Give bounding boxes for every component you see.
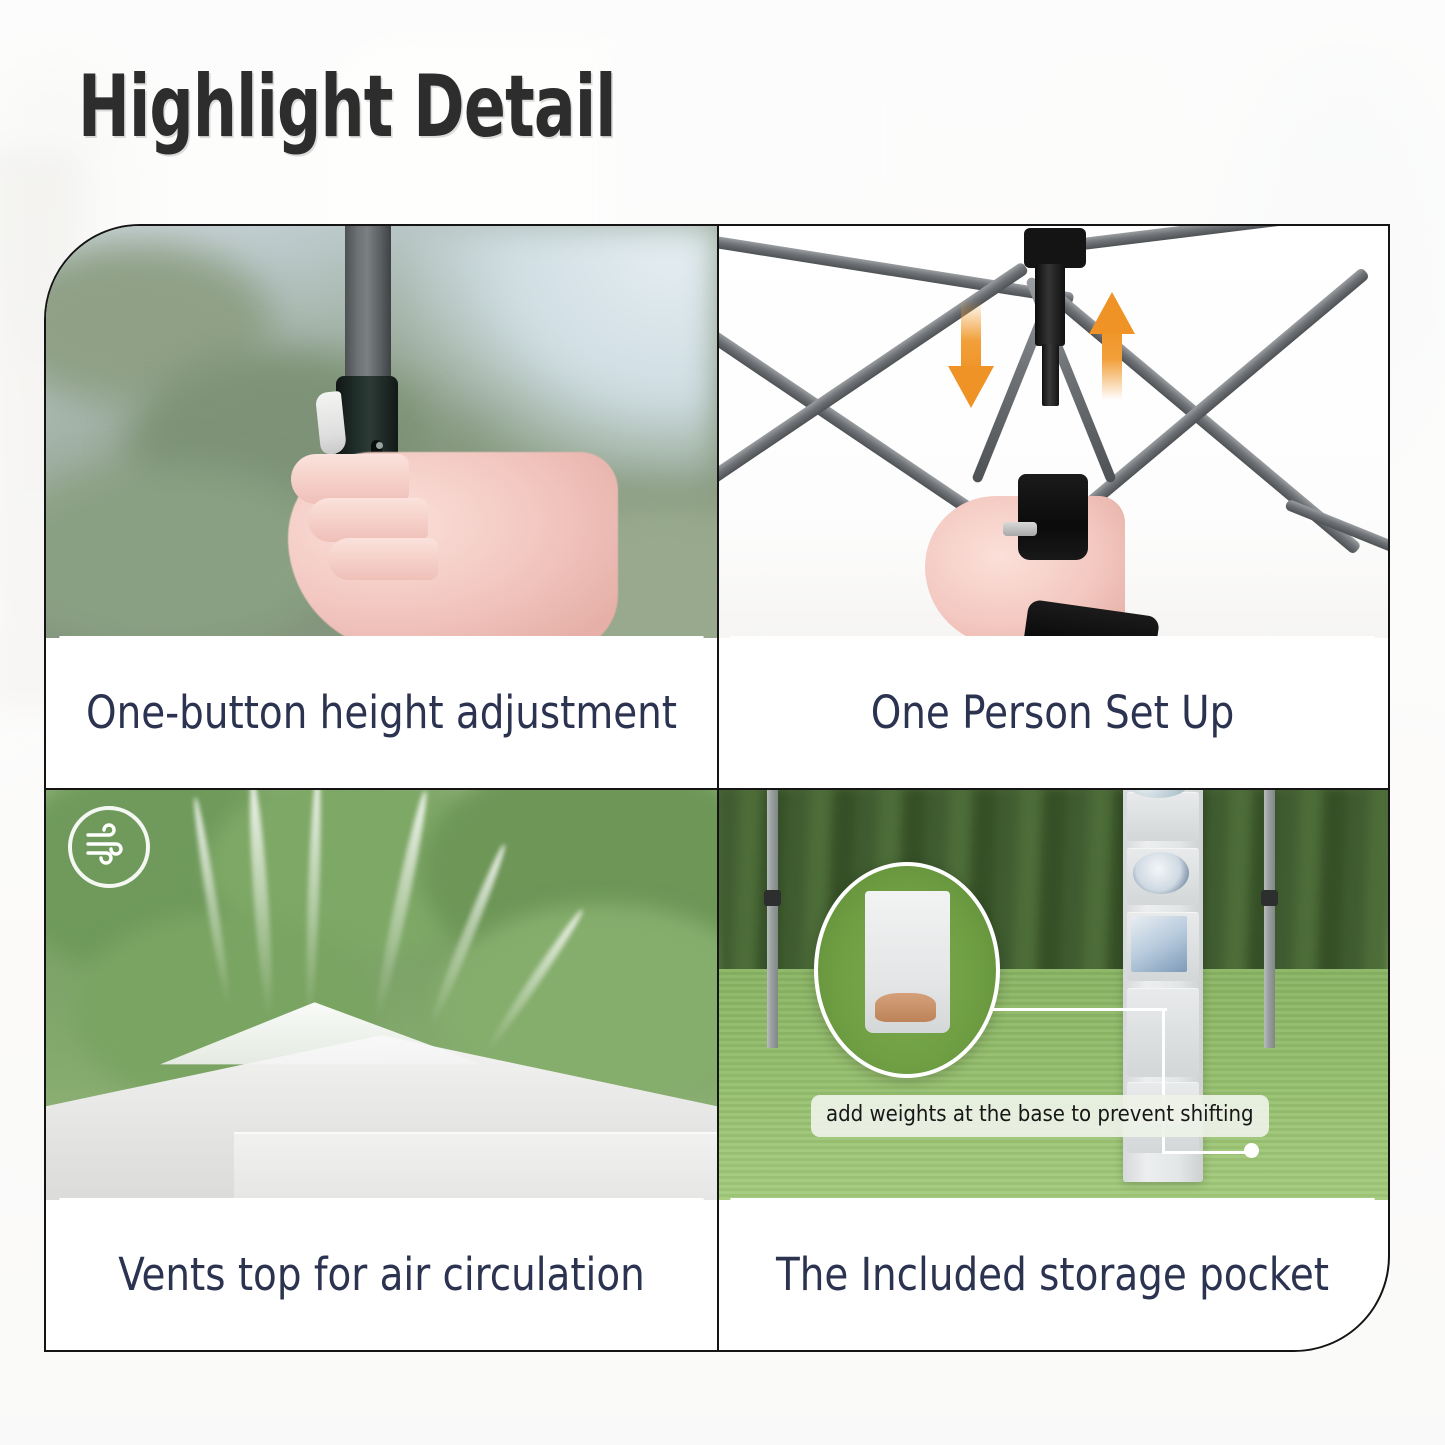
frame-hub-bottom — [1018, 474, 1088, 560]
weights-note-line1: add weights at the base — [826, 1102, 1065, 1127]
leader-end-dot — [1244, 1143, 1259, 1158]
wind-icon — [68, 806, 150, 888]
scene-pole-button — [46, 226, 717, 638]
pocket-flowers — [1127, 792, 1199, 841]
photo-storage-pocket: add weights at the base to prevent shift… — [717, 788, 1388, 1200]
caption-text: One Person Set Up — [871, 686, 1235, 739]
photo-one-person-setup — [717, 226, 1388, 638]
center-tube-lower — [1042, 344, 1059, 406]
finger-1 — [291, 454, 409, 504]
feature-panel-vents[interactable]: Vents top for air circulation — [46, 788, 717, 1350]
photo-vents — [46, 788, 717, 1200]
caption-text: Vents top for air circulation — [118, 1248, 645, 1301]
leader-line-horizontal-top — [992, 1008, 1166, 1011]
plate-graphic — [1133, 852, 1189, 894]
gazebo-leg-left — [767, 788, 778, 1048]
grid-divider-horizontal — [46, 788, 1388, 790]
gazebo-leg-right — [1264, 788, 1275, 1048]
up-arrow-icon — [1089, 292, 1135, 400]
scene-canopy-vent — [46, 788, 717, 1200]
caption-height-adjustment: One-button height adjustment — [59, 636, 703, 788]
truss-bar-2 — [1066, 226, 1388, 252]
feature-grid: One-button height adjustment — [44, 224, 1390, 1352]
magazine-graphic — [1131, 916, 1187, 972]
caption-text: One-button height adjustment — [86, 686, 677, 739]
leg-clip-icon — [764, 890, 781, 906]
frame-hub-top — [1024, 228, 1086, 268]
caption-storage-pocket: The Included storage pocket — [730, 1198, 1374, 1350]
photo-height-adjustment — [46, 226, 717, 638]
finger-3 — [328, 538, 438, 580]
canopy-skirt — [234, 1132, 717, 1200]
scene-storage-pocket: add weights at the base to prevent shift… — [717, 788, 1388, 1200]
lawn-foreground — [717, 969, 1388, 1200]
zoom-inset-oval — [814, 862, 1000, 1078]
weights-note-line2: to prevent shifting — [1071, 1102, 1253, 1127]
weights-note: add weights at the base to prevent shift… — [811, 1095, 1269, 1137]
finger-2 — [308, 498, 428, 542]
release-lever[interactable] — [1003, 522, 1037, 536]
center-tube-upper — [1035, 264, 1065, 346]
page-title: Highlight Detail — [78, 57, 616, 157]
caption-text: The Included storage pocket — [776, 1248, 1329, 1301]
down-arrow-icon — [948, 300, 994, 408]
feature-panel-height-adjustment[interactable]: One-button height adjustment — [46, 226, 717, 788]
sand-weight-graphic — [875, 993, 936, 1022]
sky-blur — [408, 226, 717, 481]
caption-vents: Vents top for air circulation — [59, 1198, 703, 1350]
feature-panel-one-person-setup[interactable]: One Person Set Up — [717, 226, 1388, 788]
caption-one-person-setup: One Person Set Up — [730, 636, 1374, 788]
feature-panel-storage-pocket[interactable]: add weights at the base to prevent shift… — [717, 788, 1388, 1350]
scene-frame-truss — [717, 226, 1388, 638]
leg-clip-icon — [1261, 890, 1278, 906]
leader-line-horizontal-bottom — [1162, 1151, 1249, 1154]
